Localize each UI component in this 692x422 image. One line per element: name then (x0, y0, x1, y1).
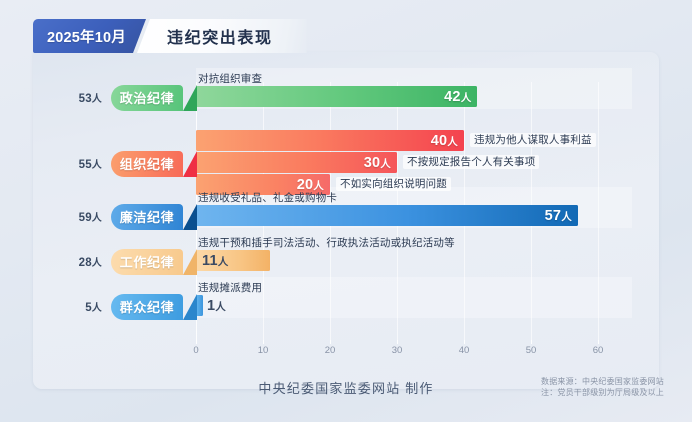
bar-value: 30人 (364, 155, 397, 171)
category-label-工作纪律: 28人工作纪律 (66, 249, 183, 275)
axis-label-10: 10 (258, 345, 269, 356)
bar: 11人 (196, 250, 270, 271)
bar-description: 违规摊派费用 (198, 282, 262, 294)
axis-label-30: 30 (392, 345, 403, 356)
category-total: 5人 (66, 299, 102, 314)
axis-label-60: 60 (593, 345, 604, 356)
axis-label-0: 0 (193, 345, 198, 356)
axis-tick-50 (531, 340, 532, 344)
bar-note: 不按规定报告个人有关事项 (403, 152, 539, 173)
bar-value: 20人 (297, 177, 330, 193)
month-tab[interactable]: 2025年10月 (33, 19, 146, 53)
category-label-政治纪律: 53人政治纪律 (66, 85, 183, 111)
category-total: 28人 (66, 254, 102, 269)
bar: 57人 (196, 205, 578, 226)
category-total: 55人 (66, 156, 102, 171)
bar-description: 违规干预和插手司法活动、行政执法活动或执纪活动等 (198, 237, 455, 249)
axis-label-50: 50 (526, 345, 537, 356)
chart-card: 对抗组织审查42人40人违规为他人谋取人事利益30人不按规定报告个人有关事项20… (33, 52, 659, 389)
axis-tick-0 (196, 340, 197, 344)
bar-note: 违规为他人谋取人事利益 (470, 130, 596, 151)
category-label-群众纪律: 5人群众纪律 (66, 294, 183, 320)
category-total: 53人 (66, 90, 102, 105)
category-label-廉洁纪律: 59人廉洁纪律 (66, 204, 183, 230)
bar-note: 不如实向组织说明问题 (336, 174, 451, 195)
bar: 42人 (196, 86, 477, 107)
header: 2025年10月 违纪突出表现 (33, 19, 307, 53)
category-tab-组织纪律[interactable]: 组织纪律 (111, 151, 183, 177)
source-note-line2: 注：党员干部级别为厅局级及以上 (541, 387, 664, 398)
page-title: 违纪突出表现 (137, 19, 307, 53)
category-tab-群众纪律[interactable]: 群众纪律 (111, 294, 183, 320)
bar: 1人 (196, 295, 203, 316)
category-tab-廉洁纪律[interactable]: 廉洁纪律 (111, 204, 183, 230)
bar-value: 42人 (444, 89, 477, 105)
bar-description: 违规收受礼品、礼金或购物卡 (198, 192, 337, 204)
bar-description: 对抗组织审查 (198, 73, 262, 85)
bar-value: 1人 (201, 298, 226, 314)
category-tab-政治纪律[interactable]: 政治纪律 (111, 85, 183, 111)
bar-value: 11人 (196, 253, 228, 269)
axis-tick-20 (330, 340, 331, 344)
axis-tick-10 (263, 340, 264, 344)
plot-area: 对抗组织审查42人40人违规为他人谋取人事利益30人不按规定报告个人有关事项20… (196, 82, 598, 340)
source-note: 数据来源：中央纪委国家监委网站 注：党员干部级别为厅局级及以上 (541, 376, 664, 398)
category-label-组织纪律: 55人组织纪律 (66, 151, 183, 177)
axis-tick-60 (598, 340, 599, 344)
bar: 40人 (196, 130, 464, 151)
category-tab-工作纪律[interactable]: 工作纪律 (111, 249, 183, 275)
axis-label-40: 40 (459, 345, 470, 356)
axis-tick-30 (397, 340, 398, 344)
bar-value: 57人 (545, 208, 578, 224)
axis-tick-40 (464, 340, 465, 344)
x-axis: 0102030405060 (196, 340, 598, 362)
bar-value: 40人 (431, 133, 464, 149)
axis-label-20: 20 (325, 345, 336, 356)
source-note-line1: 数据来源：中央纪委国家监委网站 (541, 376, 664, 387)
bar: 30人 (196, 152, 397, 173)
category-total: 59人 (66, 209, 102, 224)
